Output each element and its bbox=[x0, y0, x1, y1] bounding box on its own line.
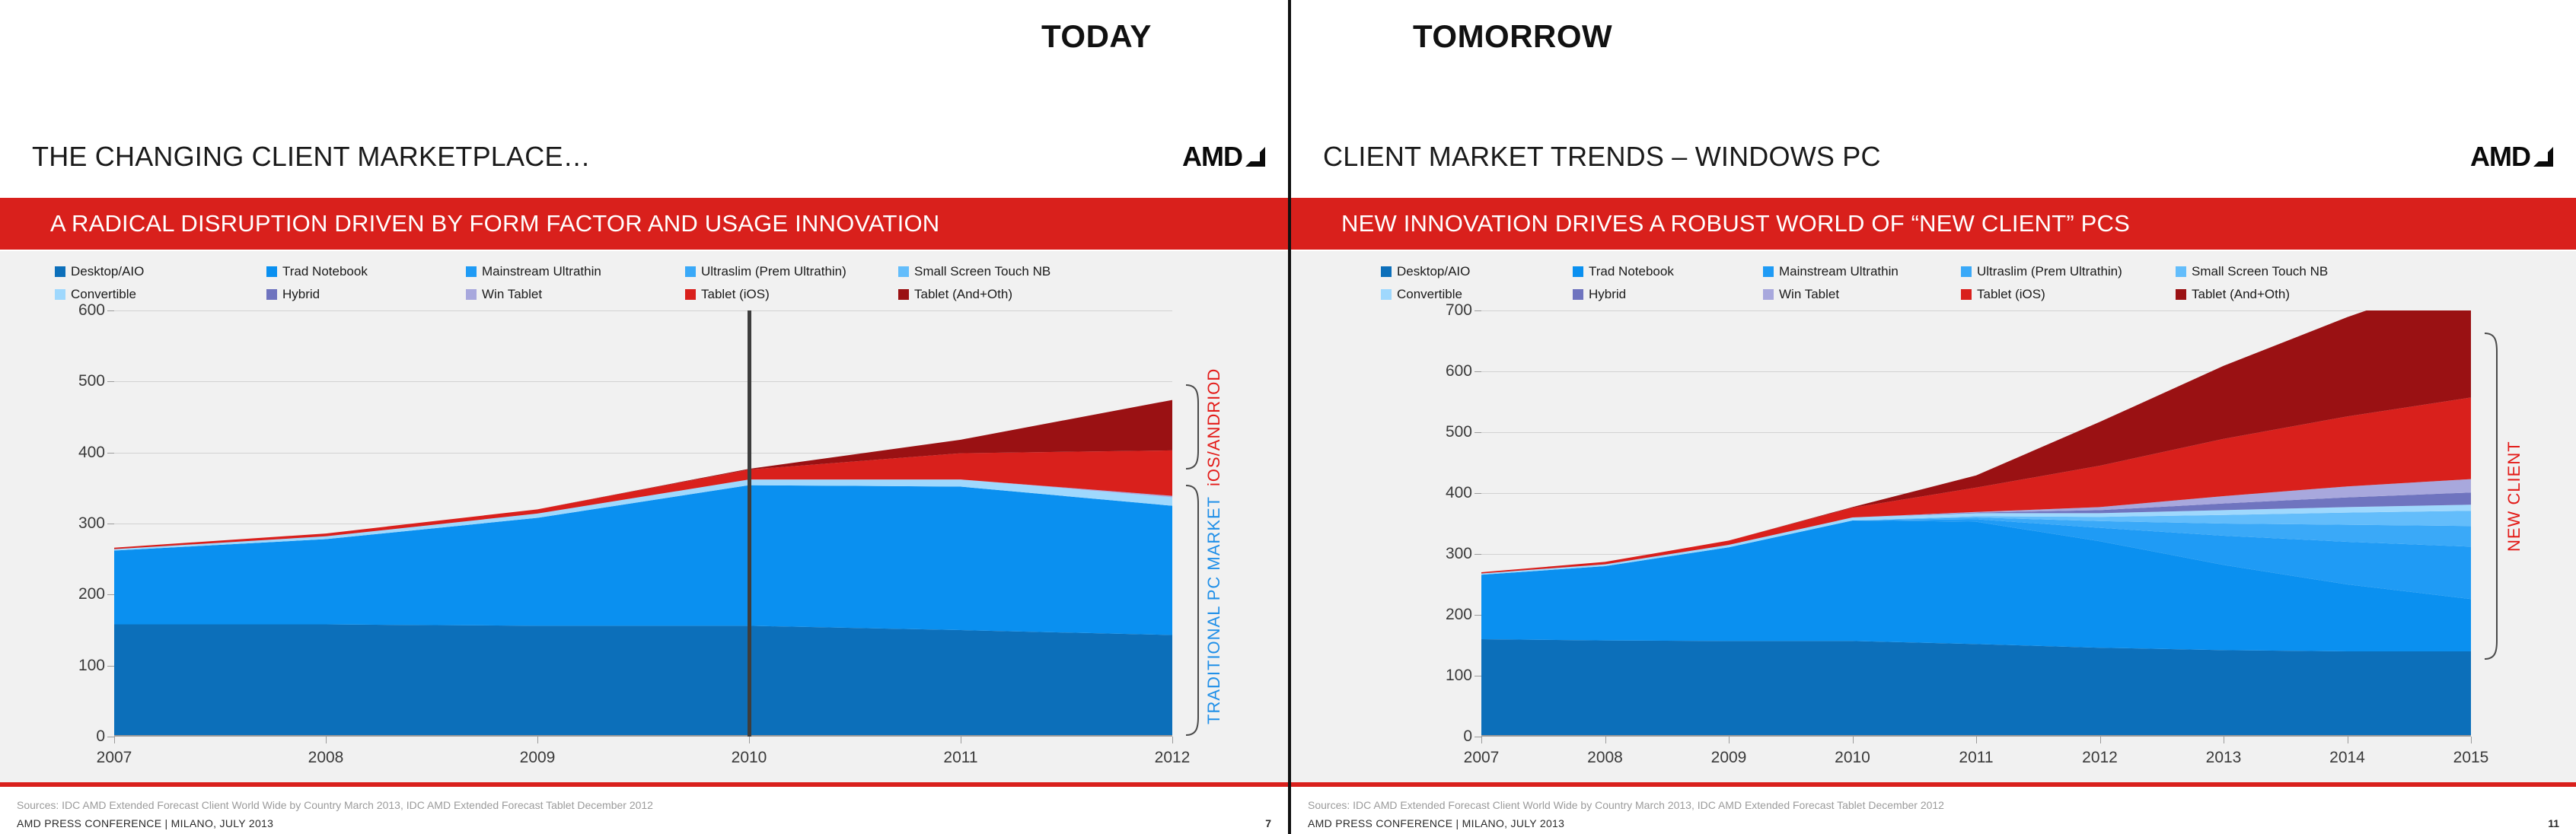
y-axis-tick-mark bbox=[1475, 615, 1481, 616]
footer-text-right: AMD PRESS CONFERENCE | MILANO, JULY 2013 bbox=[1308, 817, 1564, 829]
legend-swatch-icon bbox=[898, 266, 909, 277]
page-title-right: CLIENT MARKET TRENDS – WINDOWS PC bbox=[1323, 141, 1881, 173]
marker-line-2010 bbox=[748, 310, 751, 737]
callout-label: TRADITIONAL PC MARKET bbox=[1204, 484, 1224, 737]
footer-rule-left bbox=[0, 782, 1288, 787]
x-axis-tick-mark bbox=[1172, 737, 1173, 743]
callout-label: NEW CLIENT bbox=[2504, 332, 2524, 661]
legend-swatch-icon bbox=[898, 289, 909, 300]
red-banner-right: NEW INNOVATION DRIVES A ROBUST WORLD OF … bbox=[1291, 198, 2576, 250]
legend-swatch-icon bbox=[466, 289, 477, 300]
y-axis-tick-label: 100 bbox=[78, 657, 105, 675]
x-axis-tick-label: 2009 bbox=[520, 749, 556, 767]
legend-label: Win Tablet bbox=[482, 288, 542, 301]
legend-item-convertible[interactable]: Convertible bbox=[55, 288, 136, 301]
legend-label: Hybrid bbox=[1589, 288, 1626, 301]
y-axis-tick-mark bbox=[107, 666, 114, 667]
y-axis-tick-mark bbox=[107, 453, 114, 454]
x-axis-tick-label: 2011 bbox=[943, 749, 977, 767]
legend-swatch-icon bbox=[55, 266, 65, 277]
legend-label: Tablet (And+Oth) bbox=[2192, 288, 2290, 301]
legend-item-desktop-aio[interactable]: Desktop/AIO bbox=[1381, 265, 1470, 278]
x-axis-tick-label: 2015 bbox=[2453, 749, 2489, 767]
slide-tomorrow: TOMORROW CLIENT MARKET TRENDS – WINDOWS … bbox=[1288, 0, 2576, 834]
legend-swatch-icon bbox=[2176, 266, 2186, 277]
legend-swatch-icon bbox=[2176, 289, 2186, 300]
y-axis-tick-mark bbox=[1475, 432, 1481, 433]
x-axis-tick-mark bbox=[1729, 737, 1730, 743]
legend-label: Mainstream Ultrathin bbox=[482, 265, 601, 278]
legend-item-small-screen-touch-nb[interactable]: Small Screen Touch NB bbox=[898, 265, 1050, 278]
red-banner-left: A RADICAL DISRUPTION DRIVEN BY FORM FACT… bbox=[0, 198, 1288, 250]
x-axis-tick-label: 2008 bbox=[308, 749, 344, 767]
x-axis-tick-mark bbox=[2348, 737, 2348, 743]
legend-label: Win Tablet bbox=[1779, 288, 1839, 301]
y-axis-tick-mark bbox=[1475, 310, 1481, 311]
legend-label: Hybrid bbox=[282, 288, 320, 301]
legend-swatch-icon bbox=[1763, 289, 1774, 300]
x-axis-tick-label: 2011 bbox=[1959, 749, 1993, 767]
x-axis-tick-mark bbox=[326, 737, 327, 743]
chart-area-today: Desktop/AIOTrad NotebookMainstream Ultra… bbox=[0, 251, 1288, 784]
red-banner-text-left: A RADICAL DISRUPTION DRIVEN BY FORM FACT… bbox=[0, 210, 939, 237]
legend-item-ultraslim[interactable]: Ultraslim (Prem Ultrathin) bbox=[1961, 265, 2122, 278]
amd-logo-right: AMD bbox=[2470, 141, 2555, 173]
x-axis-tick-mark bbox=[1481, 737, 1482, 743]
x-axis-tick-label: 2010 bbox=[732, 749, 767, 767]
y-axis-tick-label: 600 bbox=[78, 301, 105, 320]
legend-swatch-icon bbox=[55, 289, 65, 300]
page-number-left: 7 bbox=[1265, 817, 1271, 829]
legend-item-small-screen-touch-nb[interactable]: Small Screen Touch NB bbox=[2176, 265, 2328, 278]
legend-label: Small Screen Touch NB bbox=[2192, 265, 2328, 278]
legend-item-tablet-ios[interactable]: Tablet (iOS) bbox=[685, 288, 770, 301]
area-series-desktop-aio bbox=[114, 625, 1172, 737]
x-axis-tick-label: 2012 bbox=[1155, 749, 1191, 767]
area-series-desktop-aio bbox=[1481, 639, 2471, 737]
x-axis-tick-mark bbox=[2100, 737, 2101, 743]
x-axis-tick-label: 2007 bbox=[97, 749, 132, 767]
legend-item-tablet-and-oth[interactable]: Tablet (And+Oth) bbox=[898, 288, 1012, 301]
legend-label: Tablet (iOS) bbox=[701, 288, 770, 301]
x-axis-tick-mark bbox=[1853, 737, 1854, 743]
y-axis-tick-label: 300 bbox=[1446, 545, 1472, 563]
slide-deck: TODAY THE CHANGING CLIENT MARKETPLACE… A… bbox=[0, 0, 2576, 834]
legend-item-win-tablet[interactable]: Win Tablet bbox=[1763, 288, 1839, 301]
legend-swatch-icon bbox=[266, 266, 277, 277]
amd-arrow-icon bbox=[2532, 145, 2555, 168]
y-axis-tick-label: 200 bbox=[1446, 606, 1472, 624]
legend-swatch-icon bbox=[466, 266, 477, 277]
x-axis-tick-mark bbox=[749, 737, 750, 743]
x-axis-tick-label: 2012 bbox=[2082, 749, 2118, 767]
legend-label: Convertible bbox=[1397, 288, 1462, 301]
x-axis-tick-label: 2008 bbox=[1587, 749, 1623, 767]
y-axis-tick-label: 0 bbox=[96, 727, 105, 746]
y-axis-tick-mark bbox=[107, 594, 114, 595]
y-axis-tick-mark bbox=[1475, 676, 1481, 676]
legend-label: Tablet (iOS) bbox=[1977, 288, 2045, 301]
legend-swatch-icon bbox=[685, 289, 696, 300]
stacked-area-series bbox=[1481, 310, 2471, 737]
footer-rule-right bbox=[1291, 782, 2576, 787]
y-axis-tick-mark bbox=[107, 381, 114, 382]
x-axis-tick-mark bbox=[2471, 737, 2472, 743]
callout-bracket bbox=[2483, 332, 2500, 661]
y-axis-tick-mark bbox=[1475, 737, 1481, 737]
x-axis-tick-mark bbox=[537, 737, 538, 743]
callout-bracket bbox=[1184, 384, 1201, 470]
area-series-trad-notebook bbox=[114, 485, 1172, 635]
amd-logo-left: AMD bbox=[1182, 141, 1267, 173]
legend-label: Ultraslim (Prem Ultrathin) bbox=[1977, 265, 2122, 278]
y-axis-tick-label: 500 bbox=[78, 372, 105, 390]
y-axis-tick-mark bbox=[107, 737, 114, 737]
legend-item-trad-notebook[interactable]: Trad Notebook bbox=[266, 265, 368, 278]
legend-swatch-icon bbox=[1381, 289, 1392, 300]
legend-swatch-icon bbox=[1763, 266, 1774, 277]
y-axis-tick-mark bbox=[107, 524, 114, 524]
y-axis-tick-mark bbox=[1475, 371, 1481, 372]
x-axis-tick-mark bbox=[961, 737, 961, 743]
y-axis-tick-label: 500 bbox=[1446, 423, 1472, 441]
legend-label: Small Screen Touch NB bbox=[914, 265, 1050, 278]
legend-label: Mainstream Ultrathin bbox=[1779, 265, 1899, 278]
legend-label: Ultraslim (Prem Ultrathin) bbox=[701, 265, 846, 278]
legend-item-hybrid[interactable]: Hybrid bbox=[1573, 288, 1626, 301]
amd-wordmark-left: AMD bbox=[1182, 141, 1242, 173]
y-axis-tick-label: 400 bbox=[1446, 484, 1472, 502]
legend-item-desktop-aio[interactable]: Desktop/AIO bbox=[55, 265, 144, 278]
stacked-area-series bbox=[114, 310, 1172, 737]
y-axis-tick-label: 100 bbox=[1446, 667, 1472, 685]
red-banner-text-right: NEW INNOVATION DRIVES A ROBUST WORLD OF … bbox=[1291, 210, 2130, 237]
era-word-tomorrow: TOMORROW bbox=[1413, 18, 1612, 55]
legend-item-tablet-and-oth[interactable]: Tablet (And+Oth) bbox=[2176, 288, 2290, 301]
legend-swatch-icon bbox=[685, 266, 696, 277]
sources-note-left: Sources: IDC AMD Extended Forecast Clien… bbox=[17, 799, 653, 811]
legend-swatch-icon bbox=[1381, 266, 1392, 277]
legend-item-hybrid[interactable]: Hybrid bbox=[266, 288, 320, 301]
legend-swatch-icon bbox=[1573, 289, 1583, 300]
legend-item-convertible[interactable]: Convertible bbox=[1381, 288, 1462, 301]
callout-bracket bbox=[1184, 484, 1201, 737]
footer-text-left: AMD PRESS CONFERENCE | MILANO, JULY 2013 bbox=[17, 817, 273, 829]
legend-item-mainstream-ultrathin[interactable]: Mainstream Ultrathin bbox=[466, 265, 601, 278]
x-axis-tick-label: 2009 bbox=[1711, 749, 1747, 767]
plot-today: 0100200300400500600200720082009201020112… bbox=[114, 310, 1172, 737]
y-axis-tick-label: 0 bbox=[1463, 727, 1472, 746]
legend-swatch-icon bbox=[1961, 266, 1972, 277]
y-axis-tick-label: 400 bbox=[78, 444, 105, 462]
y-axis-tick-mark bbox=[107, 310, 114, 311]
legend-label: Desktop/AIO bbox=[71, 265, 144, 278]
legend-item-mainstream-ultrathin[interactable]: Mainstream Ultrathin bbox=[1763, 265, 1899, 278]
page-title-left: THE CHANGING CLIENT MARKETPLACE… bbox=[32, 141, 591, 173]
y-axis-tick-mark bbox=[1475, 493, 1481, 494]
legend-item-win-tablet[interactable]: Win Tablet bbox=[466, 288, 542, 301]
x-axis-tick-label: 2010 bbox=[1835, 749, 1870, 767]
title-row-right: CLIENT MARKET TRENDS – WINDOWS PC AMD bbox=[1323, 141, 2555, 173]
plot-tomorrow: 0100200300400500600700200720082009201020… bbox=[1481, 310, 2471, 737]
y-axis-tick-label: 600 bbox=[1446, 362, 1472, 380]
x-axis-tick-label: 2013 bbox=[2206, 749, 2242, 767]
page-number-right: 11 bbox=[2548, 817, 2559, 829]
amd-arrow-icon bbox=[1244, 145, 1267, 168]
x-axis-tick-mark bbox=[1605, 737, 1606, 743]
chart-area-tomorrow: Desktop/AIOTrad NotebookMainstream Ultra… bbox=[1291, 251, 2576, 784]
legend-item-trad-notebook[interactable]: Trad Notebook bbox=[1573, 265, 1674, 278]
x-axis-tick-label: 2014 bbox=[2329, 749, 2365, 767]
legend-item-tablet-ios[interactable]: Tablet (iOS) bbox=[1961, 288, 2045, 301]
y-axis-tick-label: 200 bbox=[78, 585, 105, 603]
amd-wordmark-right: AMD bbox=[2470, 141, 2530, 173]
x-axis-tick-label: 2007 bbox=[1464, 749, 1500, 767]
x-axis-tick-mark bbox=[1976, 737, 1977, 743]
legend-label: Desktop/AIO bbox=[1397, 265, 1470, 278]
title-row-left: THE CHANGING CLIENT MARKETPLACE… AMD bbox=[32, 141, 1267, 173]
y-axis-tick-mark bbox=[1475, 554, 1481, 555]
legend-swatch-icon bbox=[1573, 266, 1583, 277]
slide-today: TODAY THE CHANGING CLIENT MARKETPLACE… A… bbox=[0, 0, 1288, 834]
legend-label: Convertible bbox=[71, 288, 136, 301]
callout-label: iOS/ANDRIOD bbox=[1204, 384, 1224, 470]
legend-label: Tablet (And+Oth) bbox=[914, 288, 1012, 301]
y-axis-tick-label: 700 bbox=[1446, 301, 1472, 320]
legend-swatch-icon bbox=[266, 289, 277, 300]
legend-swatch-icon bbox=[1961, 289, 1972, 300]
x-axis-tick-mark bbox=[114, 737, 115, 743]
y-axis-tick-label: 300 bbox=[78, 514, 105, 533]
era-word-today: TODAY bbox=[1041, 18, 1152, 55]
x-axis-line bbox=[114, 735, 1172, 737]
legend-item-ultraslim[interactable]: Ultraslim (Prem Ultrathin) bbox=[685, 265, 846, 278]
x-axis-tick-mark bbox=[2224, 737, 2224, 743]
legend-label: Trad Notebook bbox=[1589, 265, 1674, 278]
sources-note-right: Sources: IDC AMD Extended Forecast Clien… bbox=[1308, 799, 1944, 811]
legend-label: Trad Notebook bbox=[282, 265, 368, 278]
